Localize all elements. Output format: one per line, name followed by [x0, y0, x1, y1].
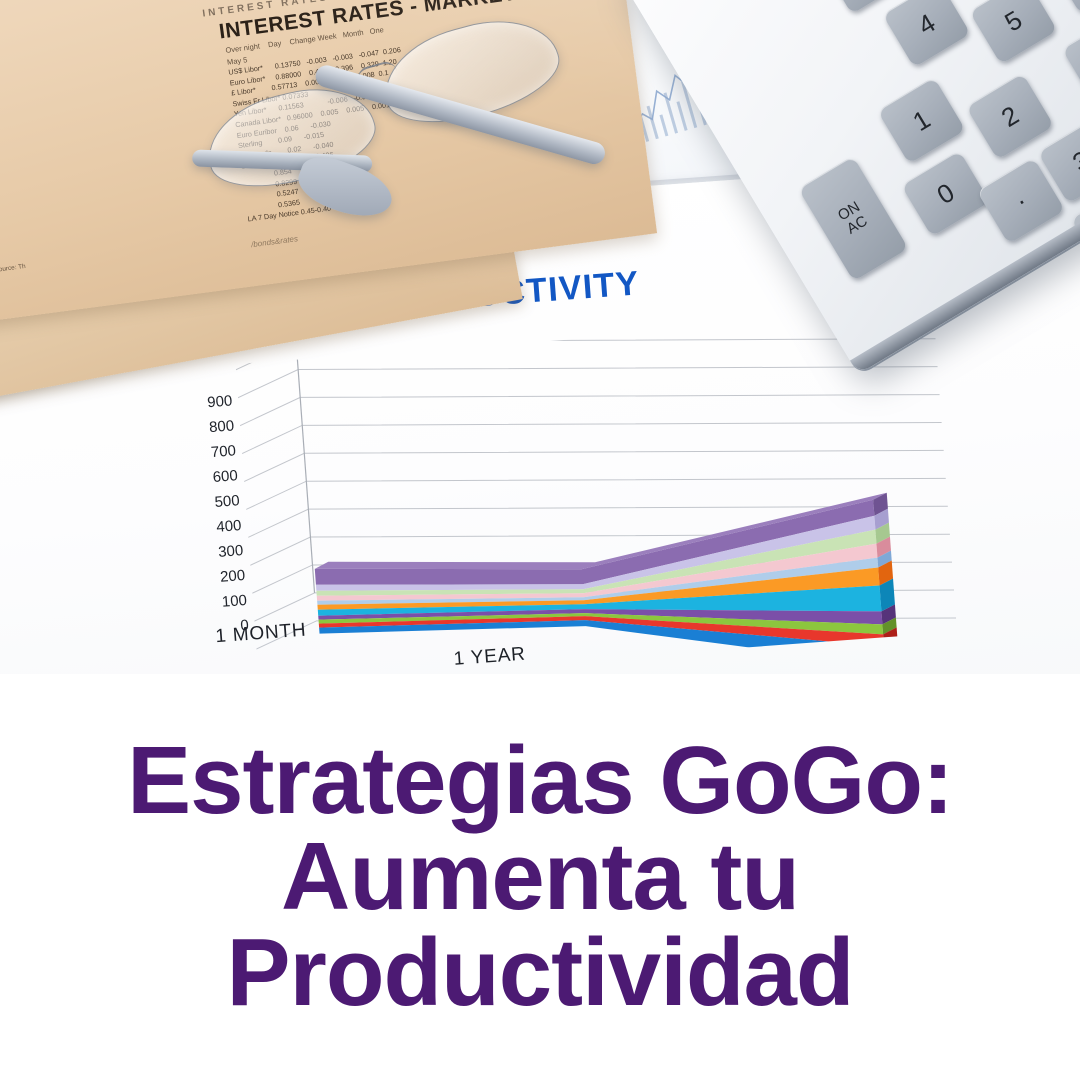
- key-0[interactable]: 0: [901, 150, 990, 236]
- y-tick-300: 300: [197, 542, 244, 562]
- chart-plot-area: [236, 313, 958, 674]
- page-title: Estrategias GoGo: Aumenta tu Productivid…: [97, 733, 983, 1021]
- y-tick-100: 100: [200, 592, 247, 612]
- y-tick-800: 800: [188, 417, 235, 437]
- poster: PRODUCTIVITY 900 800 700 600 500 400 300…: [0, 0, 1080, 1080]
- key-2[interactable]: 2: [966, 73, 1055, 160]
- y-tick-600: 600: [191, 467, 238, 487]
- key-9[interactable]: 9: [1049, 0, 1080, 14]
- key-5[interactable]: 5: [969, 0, 1058, 65]
- caption-block: Estrategias GoGo: Aumenta tu Productivid…: [0, 674, 1080, 1080]
- title-line-1: Estrategias GoGo:: [127, 733, 953, 829]
- y-tick-400: 400: [195, 517, 242, 537]
- x-tick-1-year: 1 YEAR: [453, 644, 526, 671]
- y-tick-200: 200: [199, 567, 246, 587]
- title-line-2: Aumenta tu: [127, 829, 953, 925]
- y-tick-700: 700: [189, 442, 236, 462]
- newspaper-footnote: to a sample of stocks that cover at leas…: [0, 262, 27, 307]
- y-axis-line: [296, 342, 314, 593]
- photo-region: PRODUCTIVITY 900 800 700 600 500 400 300…: [0, 0, 1080, 674]
- key-4[interactable]: 4: [882, 0, 971, 68]
- y-tick-900: 900: [186, 392, 233, 412]
- y-tick-500: 500: [193, 492, 240, 512]
- key-1[interactable]: 1: [877, 77, 966, 164]
- chart-svg: [236, 313, 958, 674]
- title-line-3: Productividad: [127, 925, 953, 1021]
- eyeglasses: [178, 0, 622, 261]
- key-6[interactable]: 6: [1062, 15, 1080, 102]
- on-ac-key[interactable]: ONAC: [798, 156, 908, 282]
